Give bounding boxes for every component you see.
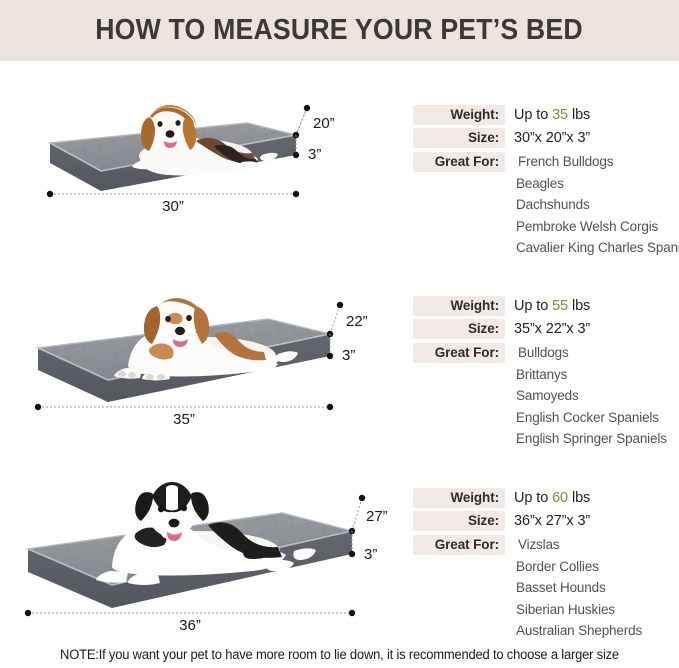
breed-list: Great For: French Bulldogs Beagles Dachs… [413,151,679,259]
weight-number: 35 [552,107,568,123]
weight-prefix: Up to [514,298,552,314]
weight-suffix: lbs [568,490,590,506]
weight-prefix: Up to [514,490,552,506]
spec-panel-large: Weight: Up to 60 lbs Size: 36”x 27”x 3” … [405,451,679,637]
list-item: Great For: Vizslas [413,534,642,556]
breed-list: Great For: Vizslas Border Collies Basset… [413,534,642,642]
dimension-height-label: 3” [308,146,321,163]
breed-name: Australian Shepherds [505,623,642,638]
header-band: HOW TO MEASURE YOUR PET’S BED [0,0,679,61]
breed-name: Cavalier King Charles Spaniels [505,240,679,255]
great-for-label: Great For: [413,152,505,172]
list-item: Great For: Bulldogs [413,342,667,364]
dimension-height-label: 3” [364,546,377,563]
weight-label: Weight: [413,488,505,508]
list-item: English Cocker Spaniels [413,407,667,429]
dimension-depth-label: 22” [346,313,368,330]
dimension-depth: 20” [293,105,335,138]
breed-name: Border Collies [505,559,599,574]
weight-suffix: lbs [568,298,590,314]
dimension-width: 36” [25,610,355,634]
weight-number: 60 [552,490,568,506]
list-item: Great For: French Bulldogs [413,151,679,173]
breed-name: Dachshunds [505,197,590,212]
list-item: Samoyeds [413,385,667,407]
breed-name: Basset Hounds [505,580,606,595]
breed-name: Pembroke Welsh Corgis [505,219,658,234]
dimension-width: 30” [47,191,299,215]
breed-name: English Cocker Spaniels [505,410,659,425]
spec-panel-medium: Weight: Up to 55 lbs Size: 35”x 22”x 3” … [405,256,679,451]
list-item: Australian Shepherds [413,620,642,642]
bed-illustration-large: 36” 27” 3” [0,451,405,637]
size-label: Size: [413,511,505,531]
weight-line: Weight: Up to 55 lbs [413,296,667,316]
breed-name: Bulldogs [505,345,569,360]
list-item: English Springer Spaniels [413,428,667,450]
weight-line: Weight: Up to 35 lbs [413,105,679,125]
dimension-depth-label: 20” [313,115,335,132]
weight-prefix: Up to [514,107,552,123]
size-value: 35”x 22”x 3” [505,321,590,337]
size-value: 30”x 20”x 3” [505,130,590,146]
breed-name: Samoyeds [505,388,579,403]
size-line: Size: 30”x 20”x 3” [413,128,679,148]
weight-label: Weight: [413,105,505,125]
size-line: Size: 36”x 27”x 3” [413,511,642,531]
weight-suffix: lbs [568,107,590,123]
great-for-label: Great For: [413,343,505,363]
page-title: HOW TO MEASURE YOUR PET’S BED [96,14,584,47]
list-item: Border Collies [413,556,642,578]
dimension-height-label: 3” [342,347,355,364]
list-item: Beagles [413,173,679,195]
weight-value: Up to 35 lbs [505,107,590,123]
list-item: Brittanys [413,364,667,386]
list-item: Basset Hounds [413,577,642,599]
bed-illustration-small: 30” 20” 3” [0,61,405,256]
list-item: Pembroke Welsh Corgis [413,216,679,238]
dimension-height: 3” [293,135,322,163]
great-for-label: Great For: [413,535,505,555]
breed-list: Great For: Bulldogs Brittanys Samoyeds E… [413,342,667,450]
size-line: Size: 35”x 22”x 3” [413,319,667,339]
breed-name: Vizslas [505,537,559,552]
dimension-width-label: 36” [179,617,201,634]
weight-label: Weight: [413,296,505,316]
weight-value: Up to 55 lbs [505,298,590,314]
breed-name: Beagles [505,176,564,191]
list-item: Siberian Huskies [413,599,642,621]
dimension-height: 3” [349,531,378,563]
breed-name: Brittanys [505,367,567,382]
dimension-width-label: 35” [173,411,195,428]
size-row-medium: 35” 22” 3” Weight: Up to 55 lbs [0,256,679,451]
size-label: Size: [413,128,505,148]
size-row-large: 36” 27” 3” Weight: Up to 60 lbs [0,451,679,637]
dimension-depth-label: 27” [366,508,388,525]
size-label: Size: [413,319,505,339]
breed-name: French Bulldogs [505,154,613,169]
dimension-depth: 27” [349,495,388,534]
weight-line: Weight: Up to 60 lbs [413,488,642,508]
spec-panel-small: Weight: Up to 35 lbs Size: 30”x 20”x 3” … [405,61,679,256]
list-item: Dachshunds [413,194,679,216]
size-value: 36”x 27”x 3” [505,513,590,529]
footer-note: NOTE:If you want your pet to have more r… [14,647,666,662]
dimension-height: 3” [327,334,356,364]
breed-name: English Springer Spaniels [505,431,667,446]
bed-illustration-medium: 35” 22” 3” [0,256,405,451]
dimension-width: 35” [35,404,333,428]
weight-value: Up to 60 lbs [505,490,590,506]
weight-number: 55 [552,298,568,314]
dimension-width-label: 30” [162,198,184,215]
dimension-depth: 22” [327,302,368,337]
breed-name: Siberian Huskies [505,602,615,617]
size-row-small: 30” 20” 3” Weight: Up to 35 lbs [0,61,679,256]
